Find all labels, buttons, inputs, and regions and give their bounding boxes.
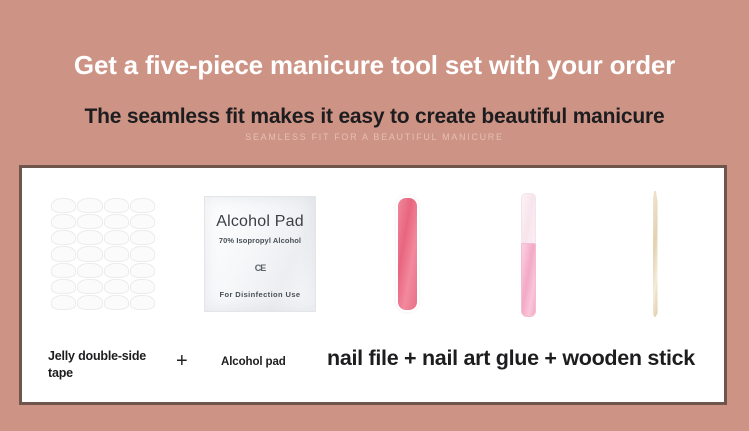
product-panel-frame: Alcohol Pad 70% Isopropyl Alcohol CE For… [19,165,727,405]
microcaps-tagline: SEAMLESS FIT FOR A BEAUTIFUL MANICURE [0,131,749,144]
glue-cap [521,193,536,247]
alcohol-pad-packet: Alcohol Pad 70% Isopropyl Alcohol CE For… [204,196,316,312]
caption-alcohol-pad: Alcohol pad [221,356,286,368]
glue-body [521,243,536,317]
product-image-nail-art-glue [472,168,582,340]
alcohol-pad-subtitle: 70% Isopropyl Alcohol [219,236,301,245]
nail-file-icon [396,196,419,312]
product-image-jelly-double-side-tape [28,168,178,340]
alcohol-pad-footer: For Disinfection Use [220,290,301,299]
caption-plus-separator: + [176,350,188,373]
product-image-alcohol-pad: Alcohol Pad 70% Isopropyl Alcohol CE For… [190,168,330,340]
product-image-strip: Alcohol Pad 70% Isopropyl Alcohol CE For… [22,168,724,340]
page-title: Get a five-piece manicure tool set with … [0,50,749,80]
product-caption-row: Jelly double-side tape + Alcohol pad nai… [22,334,724,402]
wooden-stick-icon [653,191,658,317]
product-panel: Alcohol Pad 70% Isopropyl Alcohol CE For… [22,168,724,402]
subheadline: The seamless fit makes it easy to create… [0,104,749,129]
product-image-wooden-stick [600,168,710,340]
nail-art-glue-icon [521,193,534,315]
ce-mark-icon: CE [255,263,266,273]
caption-remaining-tools: nail file + nail art glue + wooden stick [327,346,695,371]
jelly-tape-sheet-icon [51,198,155,310]
product-image-nail-file [352,168,462,340]
alcohol-pad-title: Alcohol Pad [216,213,304,231]
promo-banner: Get a five-piece manicure tool set with … [0,0,749,431]
caption-jelly-double-side-tape: Jelly double-side tape [48,348,168,382]
